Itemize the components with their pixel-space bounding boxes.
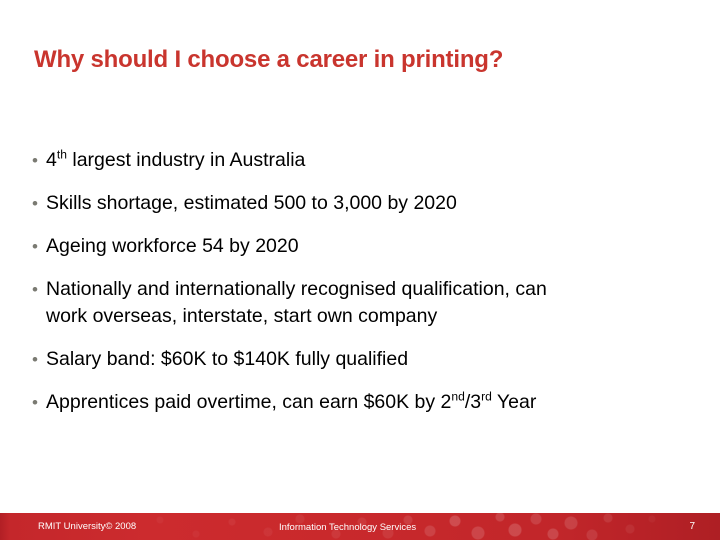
ordinal-suffix-third: rd xyxy=(481,390,492,404)
bullet-dot-icon: • xyxy=(32,347,46,372)
list-item: • 4th largest industry in Australia xyxy=(32,148,692,173)
list-item-text: Salary band: $60K to $140K fully qualifi… xyxy=(46,347,692,372)
bullet-dot-icon: • xyxy=(32,148,46,173)
list-item-text-post: Year xyxy=(492,391,536,413)
list-item: • Apprentices paid overtime, can earn $6… xyxy=(32,390,692,415)
list-item: • Nationally and internationally recogni… xyxy=(32,277,692,329)
presentation-slide: Why should I choose a career in printing… xyxy=(0,0,720,540)
list-item-text: Apprentices paid overtime, can earn $60K… xyxy=(46,390,692,415)
bullet-dot-icon: • xyxy=(32,390,46,415)
list-item-text-mid: /3 xyxy=(465,391,481,413)
list-item-text: Ageing workforce 54 by 2020 xyxy=(46,234,692,259)
list-item-line-1: Nationally and internationally recognise… xyxy=(46,278,547,300)
list-item-text-pre: 4 xyxy=(46,149,57,171)
footer-department: Information Technology Services xyxy=(279,522,416,534)
list-item: • Salary band: $60K to $140K fully quali… xyxy=(32,347,692,372)
ordinal-suffix-second: nd xyxy=(451,390,464,404)
list-item: • Ageing workforce 54 by 2020 xyxy=(32,234,692,259)
slide-number: 7 xyxy=(689,521,695,533)
list-item: • Skills shortage, estimated 500 to 3,00… xyxy=(32,191,692,216)
list-item-text-post: largest industry in Australia xyxy=(67,149,305,171)
list-item-text: Skills shortage, estimated 500 to 3,000 … xyxy=(46,191,692,216)
list-item-text: 4th largest industry in Australia xyxy=(46,148,692,173)
slide-footer: RMIT University© 2008 Information Techno… xyxy=(0,513,720,540)
footer-copyright: RMIT University© 2008 xyxy=(38,521,136,533)
bullet-dot-icon: • xyxy=(32,277,46,302)
ordinal-suffix: th xyxy=(57,148,67,162)
page-title: Why should I choose a career in printing… xyxy=(34,45,684,75)
list-item-text-pre: Apprentices paid overtime, can earn $60K… xyxy=(46,391,451,413)
list-item-line-2: work overseas, interstate, start own com… xyxy=(46,304,692,329)
list-item-text: Nationally and internationally recognise… xyxy=(46,277,692,329)
bullet-dot-icon: • xyxy=(32,234,46,259)
bullet-list: • 4th largest industry in Australia • Sk… xyxy=(32,148,692,415)
bullet-dot-icon: • xyxy=(32,191,46,216)
